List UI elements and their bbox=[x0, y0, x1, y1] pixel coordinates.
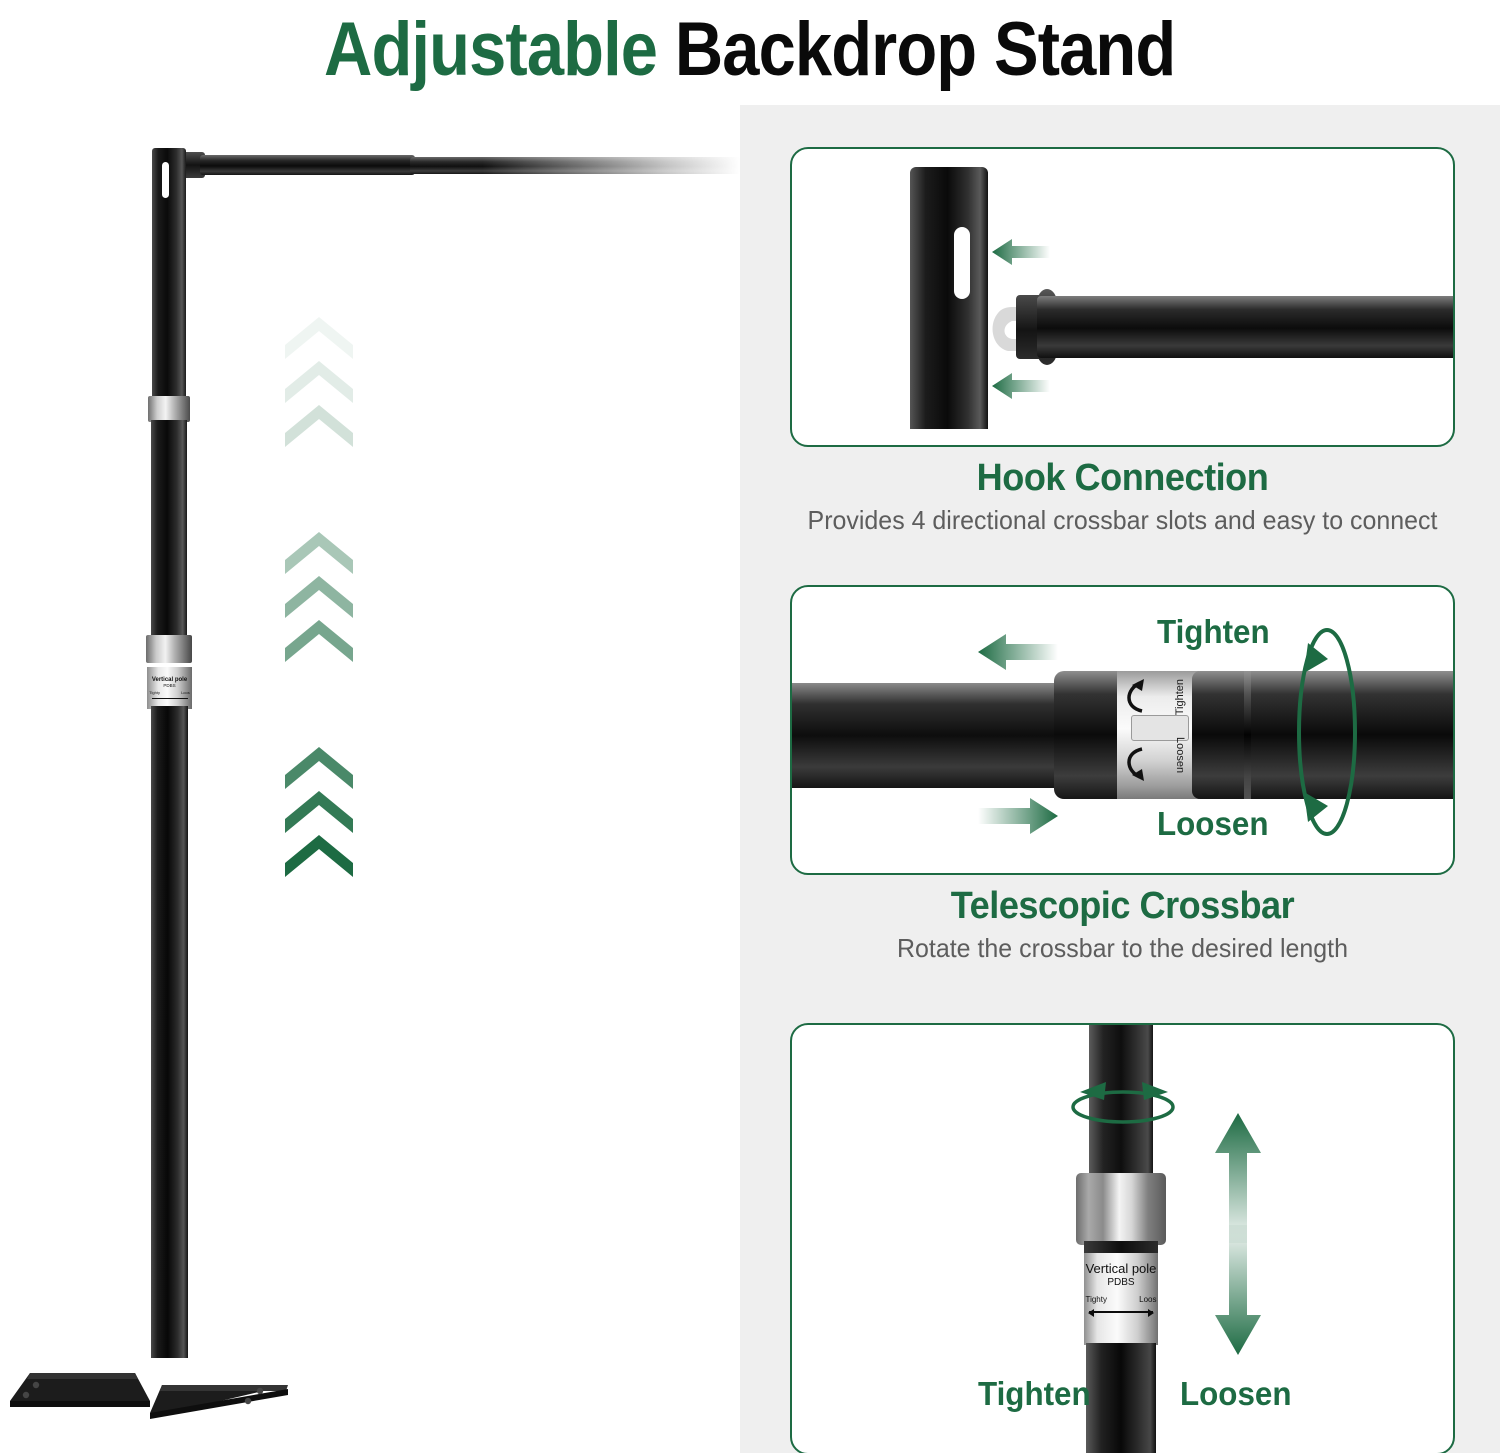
illustration-vertical-pole bbox=[910, 167, 988, 429]
pole-collar-lower bbox=[146, 635, 192, 663]
feature-panel: Hook Connection Provides 4 directional c… bbox=[740, 105, 1500, 1453]
hook-connection-illustration bbox=[790, 147, 1455, 447]
extend-right-arrow-icon bbox=[978, 795, 1058, 837]
hero-label-arrow bbox=[152, 698, 188, 699]
page-title: Adjustable Backdrop Stand bbox=[0, 0, 1500, 100]
sticker-left-mark: Tighty bbox=[1085, 1295, 1107, 1304]
illustration-crossbar bbox=[1037, 296, 1455, 358]
infographic-page: Adjustable Backdrop Stand Vertical pole … bbox=[0, 0, 1500, 1453]
illustration-hook-slot bbox=[954, 227, 970, 299]
card-title-telescopic-crossbar: Telescopic Crossbar bbox=[807, 885, 1439, 929]
vertical-bar-twist-nut bbox=[1076, 1173, 1166, 1245]
hero-label-right-mark: Loos bbox=[181, 690, 190, 695]
base-plate bbox=[10, 1345, 290, 1437]
vertical-bar-illustration: Vertical pole PDBS Tighty Loos bbox=[790, 1023, 1455, 1453]
hero-label-left-mark: Tighty bbox=[149, 690, 160, 695]
height-direction-chevrons bbox=[283, 315, 367, 975]
tighten-label-vertical-bar: Tighten bbox=[978, 1375, 1091, 1413]
card-subtitle-telescopic-crossbar: Rotate the crossbar to the desired lengt… bbox=[803, 933, 1441, 964]
vertical-bar-lower-tube bbox=[1086, 1343, 1156, 1453]
pole-hook-slot bbox=[162, 162, 169, 198]
hero-pole-label: Vertical pole PDBS Tighty Loos bbox=[147, 667, 192, 709]
title-main-words: Backdrop Stand bbox=[675, 7, 1176, 92]
feature-card-hook-connection: Hook Connection Provides 4 directional c… bbox=[790, 147, 1455, 535]
collar-tighten-microlabel: Tighten bbox=[1174, 679, 1186, 715]
crossbar-inner-segment bbox=[200, 155, 415, 175]
insert-arrow-bottom-icon bbox=[992, 371, 1050, 401]
loosen-label-crossbar: Loosen bbox=[1157, 805, 1268, 843]
insert-arrow-top-icon bbox=[992, 237, 1050, 267]
crossbar-left-tube bbox=[792, 683, 1077, 788]
tighten-label-crossbar: Tighten bbox=[1157, 613, 1270, 651]
loosen-label-vertical-bar: Loosen bbox=[1180, 1375, 1291, 1413]
height-down-arrow-icon bbox=[1214, 1225, 1262, 1355]
pole-rotate-icon bbox=[1064, 1080, 1182, 1126]
card-subtitle-hook-connection: Provides 4 directional crossbar slots an… bbox=[803, 505, 1441, 536]
hero-label-line2: PDBS bbox=[163, 683, 175, 689]
feature-card-telescopic-crossbar: Tighten Loosen bbox=[790, 585, 1455, 963]
collar-loosen-curve-icon bbox=[1122, 747, 1148, 781]
height-up-arrow-icon bbox=[1214, 1113, 1262, 1243]
telescopic-crossbar-illustration: Tighten Loosen bbox=[790, 585, 1455, 875]
title-accent-word: Adjustable bbox=[324, 7, 657, 92]
vertical-pole-middle-segment bbox=[151, 420, 187, 642]
vertical-pole-lower-segment bbox=[151, 706, 188, 1358]
collar-loosen-microlabel: Loosen bbox=[1174, 737, 1186, 773]
rotate-loop-icon bbox=[1292, 625, 1362, 840]
pole-collar-upper bbox=[148, 396, 190, 422]
crossbar-seam bbox=[1244, 671, 1251, 799]
sticker-line2: PDBS bbox=[1107, 1276, 1134, 1290]
hero-product-image: Vertical pole PDBS Tighty Loos bbox=[0, 100, 740, 1453]
vertical-bar-sticker: Vertical pole PDBS Tighty Loos bbox=[1084, 1253, 1158, 1345]
sticker-line1: Vertical pole bbox=[1086, 1262, 1157, 1276]
sticker-span-arrow bbox=[1089, 1311, 1153, 1313]
crossbar-outer-segment bbox=[410, 157, 740, 174]
sticker-right-mark: Loos bbox=[1139, 1295, 1156, 1304]
feature-card-heavy-duty-vertical-bar: Vertical pole PDBS Tighty Loos bbox=[790, 1023, 1455, 1453]
collar-tighten-curve-icon bbox=[1122, 679, 1148, 713]
card-title-hook-connection: Hook Connection bbox=[807, 457, 1439, 501]
extend-left-arrow-icon bbox=[978, 631, 1058, 673]
